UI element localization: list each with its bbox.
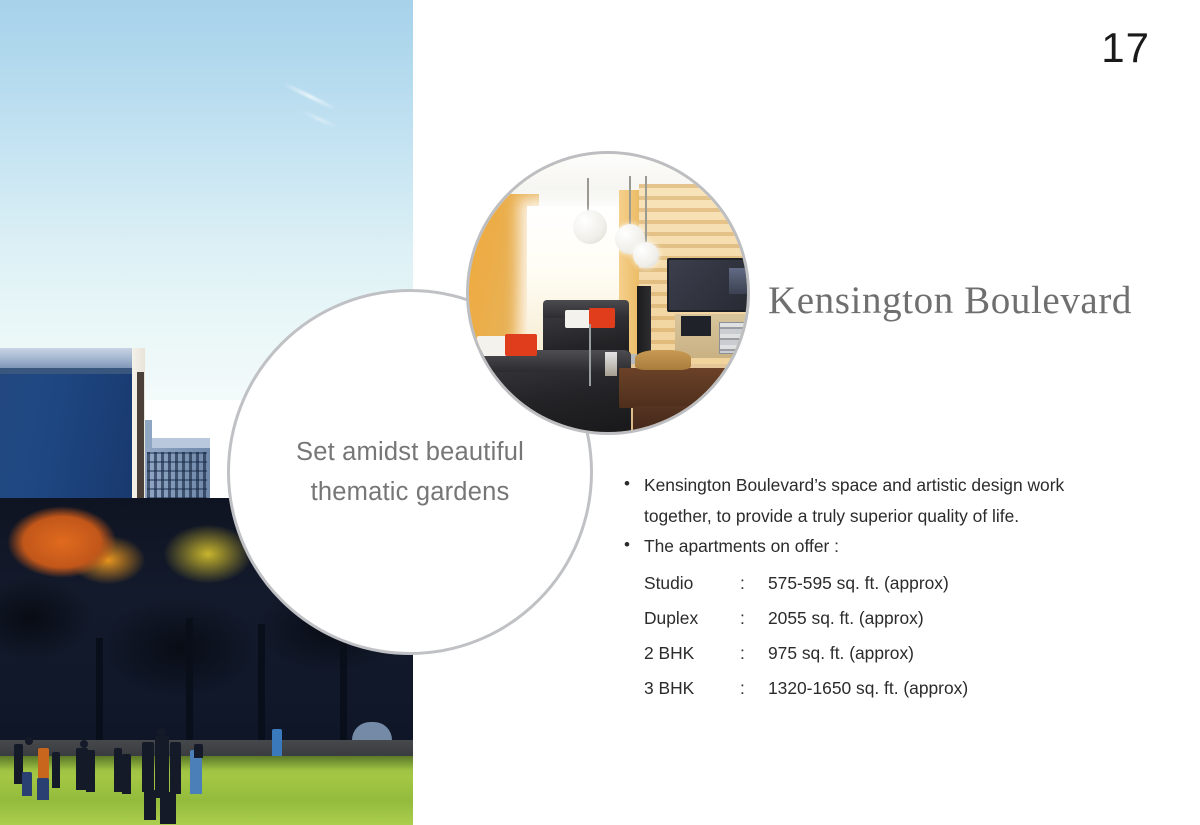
tower-corner-edge	[137, 372, 144, 517]
apartment-spec-table: Studio : 575-595 sq. ft. (approx) Duplex…	[644, 566, 968, 706]
separator: :	[740, 636, 768, 671]
person-figure	[22, 772, 32, 796]
wall-mounted-tv	[667, 258, 750, 312]
tower-roof-cap	[0, 348, 132, 368]
person-figure	[86, 750, 95, 792]
person-figure	[157, 728, 166, 737]
body-content: Kensington Boulevard’s space and artisti…	[622, 470, 1092, 706]
table-row: 2 BHK : 975 sq. ft. (approx)	[644, 636, 968, 671]
table-row: Studio : 575-595 sq. ft. (approx)	[644, 566, 968, 601]
highlight-caption-line2: thematic gardens	[260, 472, 560, 512]
floor-lamp-pole	[589, 324, 591, 386]
red-cushion	[505, 334, 537, 356]
apartment-type: 3 BHK	[644, 671, 740, 706]
coffee-table-legs	[633, 406, 719, 432]
person-figure	[170, 742, 181, 794]
tower-roof-band	[0, 368, 132, 374]
pendant-cord	[587, 178, 589, 212]
separator: :	[740, 671, 768, 706]
person-figure	[155, 736, 169, 798]
apartment-area: 2055 sq. ft. (approx)	[768, 601, 968, 636]
blue-bin	[272, 729, 282, 757]
table-glass	[605, 352, 617, 376]
list-item: Kensington Boulevard’s space and artisti…	[622, 470, 1092, 531]
person-figure	[114, 748, 122, 792]
person-figure	[144, 790, 156, 820]
lawn-shadow	[0, 756, 413, 770]
person-figure	[142, 742, 154, 792]
apartment-type: Studio	[644, 566, 740, 601]
paper-lantern-icon	[633, 242, 659, 268]
bullet-list: Kensington Boulevard’s space and artisti…	[622, 470, 1092, 562]
apartment-type: Duplex	[644, 601, 740, 636]
coffee-table	[619, 368, 735, 408]
red-cushion	[589, 308, 615, 328]
pendant-cord	[629, 176, 631, 228]
living-room-interior-photo	[466, 151, 750, 435]
separator: :	[740, 566, 768, 601]
person-figure	[52, 752, 60, 788]
person-figure	[38, 748, 49, 782]
apartment-type: 2 BHK	[644, 636, 740, 671]
person-figure	[122, 754, 131, 794]
pendant-cord	[645, 176, 647, 246]
person-figure	[160, 792, 176, 824]
paper-lantern-icon	[573, 210, 607, 244]
media-console	[675, 314, 750, 358]
room-scene	[469, 154, 747, 432]
slide-canvas: Set amidst beautiful thematic gardens	[0, 0, 1200, 825]
person-figure	[80, 740, 88, 748]
apartment-area: 575-595 sq. ft. (approx)	[768, 566, 968, 601]
media-rack	[719, 322, 750, 354]
person-figure	[194, 744, 203, 758]
media-box	[681, 316, 711, 336]
person-figure	[37, 778, 49, 800]
page-title: Kensington Boulevard	[768, 278, 1132, 323]
list-item: The apartments on offer :	[622, 531, 1092, 562]
separator: :	[740, 601, 768, 636]
table-row: 3 BHK : 1320-1650 sq. ft. (approx)	[644, 671, 968, 706]
park-lawn	[0, 756, 413, 825]
table-row: Duplex : 2055 sq. ft. (approx)	[644, 601, 968, 636]
page-number: 17	[1101, 24, 1150, 72]
highlight-caption: Set amidst beautiful thematic gardens	[260, 432, 560, 512]
highlight-caption-line1: Set amidst beautiful	[260, 432, 560, 472]
table-decor-bowl	[635, 350, 691, 370]
apartment-area: 975 sq. ft. (approx)	[768, 636, 968, 671]
person-figure	[25, 737, 33, 745]
apartment-area: 1320-1650 sq. ft. (approx)	[768, 671, 968, 706]
